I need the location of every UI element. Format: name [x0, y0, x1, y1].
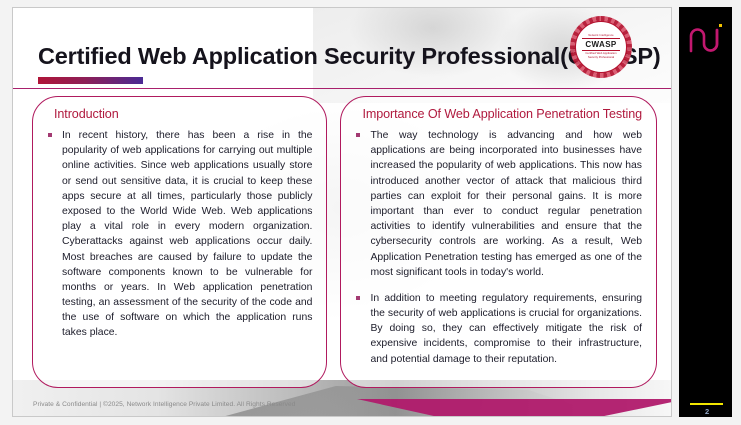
- page-title: Certified Web Application Security Profe…: [38, 44, 638, 70]
- box-heading-importance: Importance Of Web Application Penetratio…: [362, 107, 642, 121]
- page-number: 2: [705, 407, 709, 416]
- bullet-list-introduction: In recent history, there has been a rise…: [46, 128, 312, 341]
- square-bullet-icon: [356, 296, 360, 300]
- list-item-text: In recent history, there has been a rise…: [62, 130, 312, 338]
- title-divider-rule: [13, 88, 672, 89]
- footer-bar: Private & Confidential | ©2025, Network …: [13, 399, 672, 417]
- seal-bottom-text: Certified Web Application Security Profe…: [578, 52, 624, 59]
- slide-canvas: Certified Web Application Security Profe…: [12, 7, 672, 417]
- list-item: The way technology is advancing and how …: [354, 128, 642, 280]
- seal-word: CWASP: [582, 38, 621, 51]
- footer-wedge-shape: [357, 399, 672, 417]
- content-box-importance: Importance Of Web Application Penetratio…: [340, 96, 657, 388]
- title-accent-bar: [38, 77, 143, 84]
- content-box-introduction: Introduction In recent history, there ha…: [32, 96, 327, 388]
- list-item-text: In addition to meeting regulatory requir…: [370, 293, 642, 365]
- page-number-rule: [690, 403, 723, 405]
- seal-top-text: Network Intelligence: [586, 34, 615, 37]
- ni-logo-icon: [688, 27, 724, 53]
- list-item: In recent history, there has been a rise…: [46, 128, 312, 341]
- slide-root: Certified Web Application Security Profe…: [0, 0, 741, 425]
- square-bullet-icon: [356, 133, 360, 137]
- seal-inner-face: Network Intelligence CWASP Certified Web…: [578, 24, 624, 70]
- content-area: Introduction In recent history, there ha…: [32, 96, 657, 388]
- bullet-list-importance: The way technology is advancing and how …: [354, 128, 642, 367]
- list-item-text: The way technology is advancing and how …: [370, 130, 642, 278]
- right-rail: 2: [679, 7, 732, 417]
- square-bullet-icon: [48, 133, 52, 137]
- footer-text: Private & Confidential | ©2025, Network …: [33, 401, 295, 408]
- list-item: In addition to meeting regulatory requir…: [354, 291, 642, 367]
- title-block: Certified Web Application Security Profe…: [38, 44, 638, 70]
- cwasp-seal-icon: Network Intelligence CWASP Certified Web…: [570, 16, 632, 78]
- box-heading-introduction: Introduction: [54, 107, 312, 121]
- ni-logo-dot-icon: [719, 24, 722, 27]
